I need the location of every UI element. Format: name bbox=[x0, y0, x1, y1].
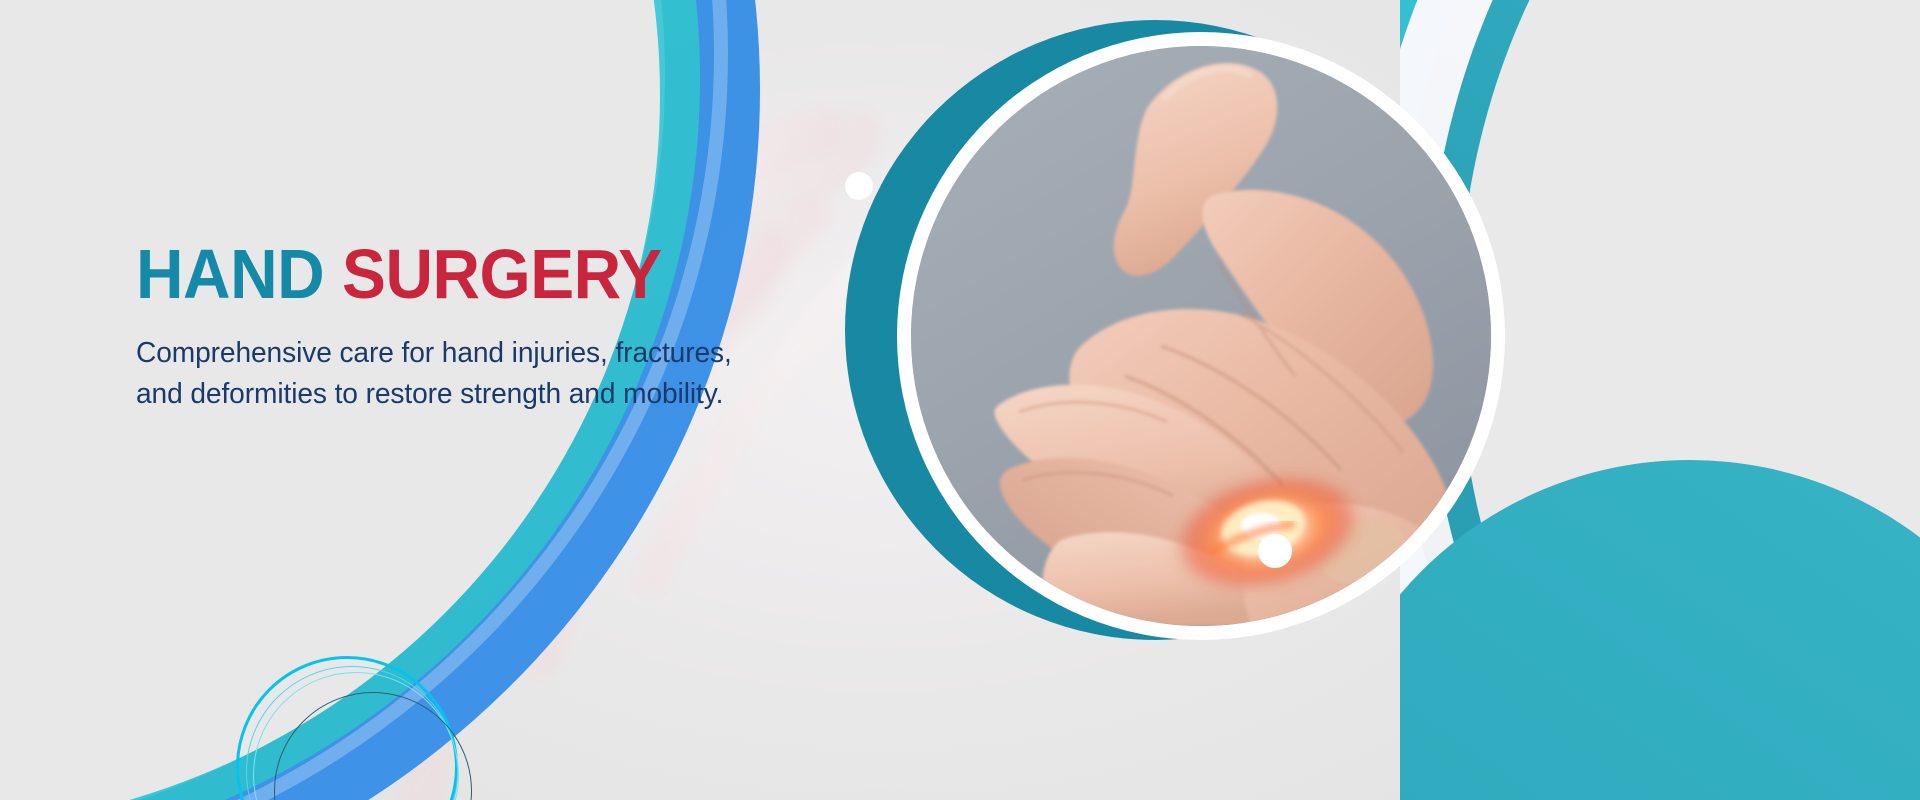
headline-word-accent: SURGERY bbox=[342, 235, 662, 313]
banner-content: HAND SURGERY Comprehensive care for hand… bbox=[136, 238, 856, 415]
decorative-concentric-rings bbox=[228, 648, 488, 800]
hand-photo-medallion bbox=[845, 20, 1485, 660]
hand-photo bbox=[911, 46, 1491, 626]
subtitle-line-2: and deformities to restore strength and … bbox=[136, 374, 834, 415]
banner-subtitle: Comprehensive care for hand injuries, fr… bbox=[136, 333, 834, 415]
headline-word-primary: HAND bbox=[136, 235, 324, 313]
decorative-dot-lower bbox=[1258, 534, 1292, 568]
page-title: HAND SURGERY bbox=[136, 238, 813, 311]
subtitle-line-1: Comprehensive care for hand injuries, fr… bbox=[136, 333, 834, 374]
hand-surgery-banner: HAND SURGERY Comprehensive care for hand… bbox=[0, 0, 1920, 800]
decorative-dot-upper bbox=[845, 172, 873, 200]
